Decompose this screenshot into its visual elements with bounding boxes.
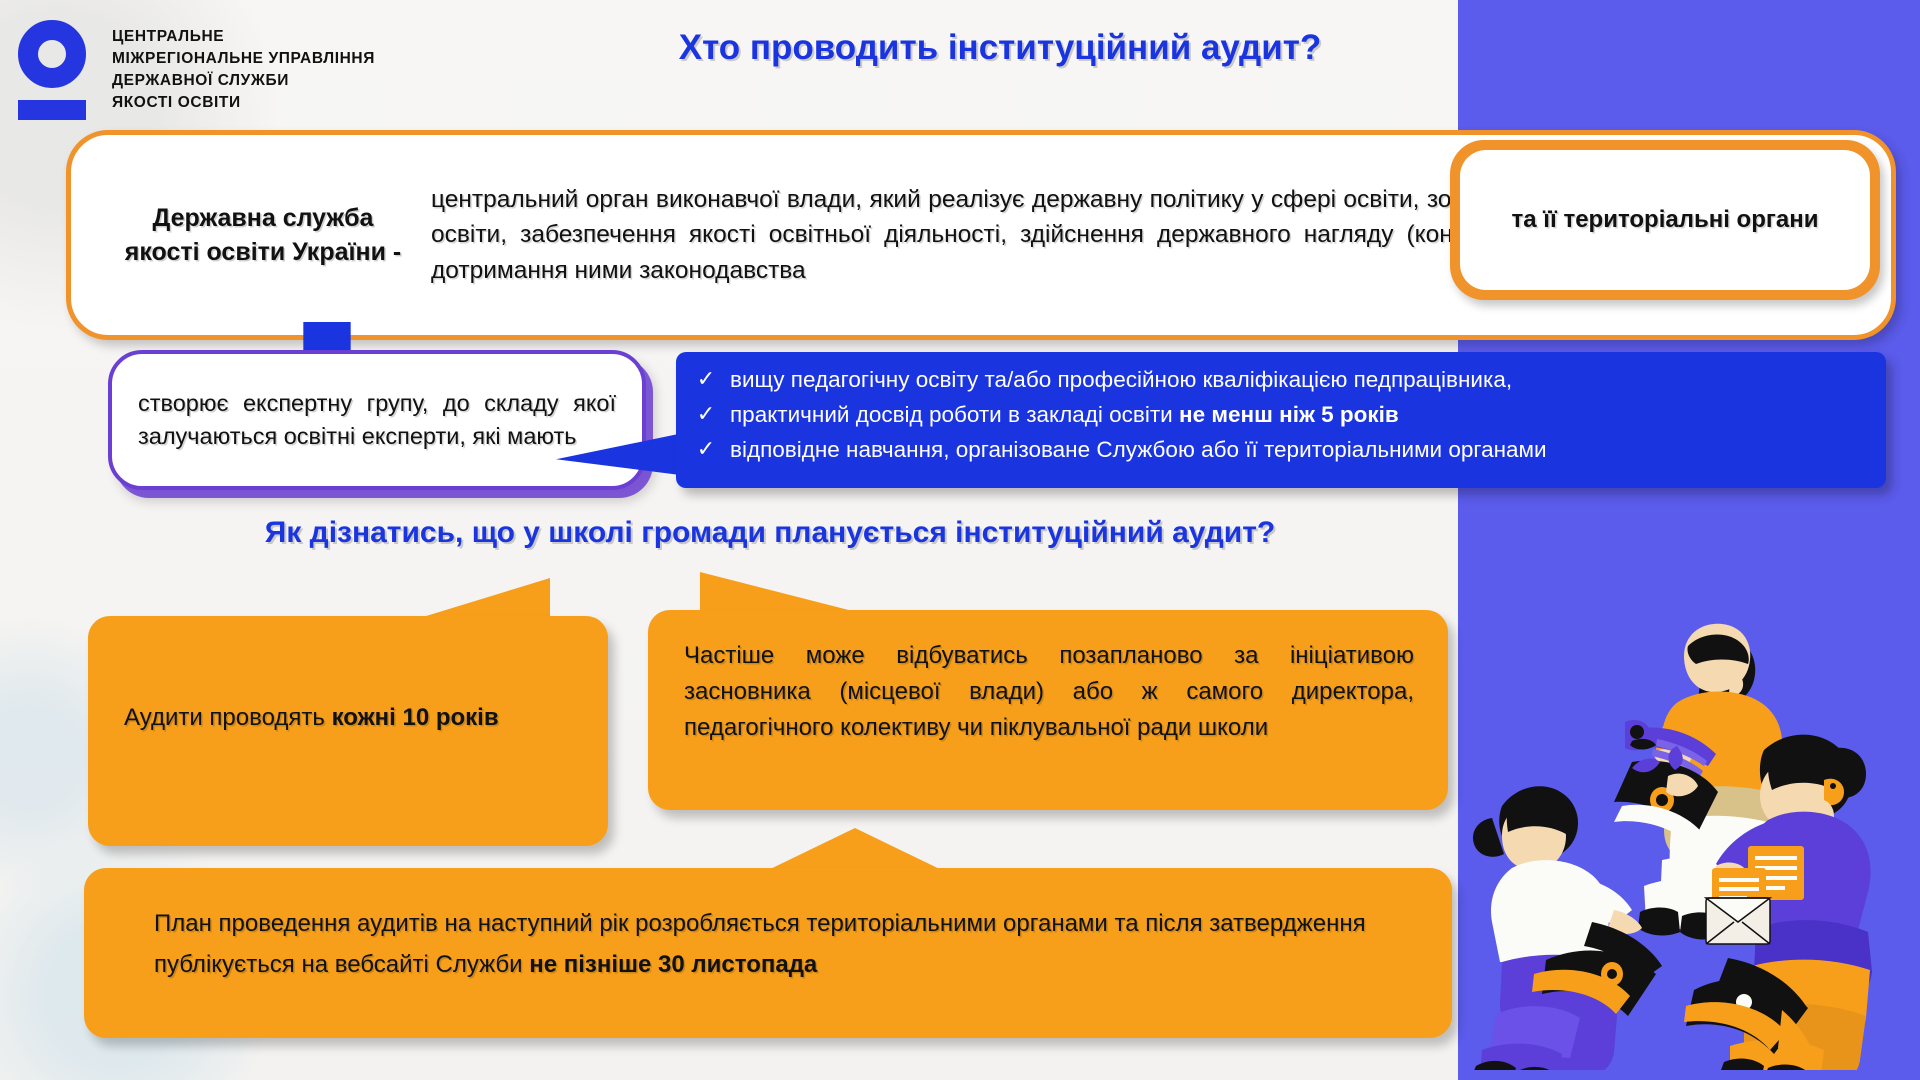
callout-audit-frequency: Аудити проводять кожні 10 років bbox=[88, 616, 608, 846]
brand-logo: ЦЕНТРАЛЬНЕ МІЖРЕГІОНАЛЬНЕ УПРАВЛІННЯ ДЕР… bbox=[18, 14, 375, 120]
callout-audit-plan-publication: План проведення аудитів на наступний рік… bbox=[84, 868, 1452, 1038]
section-subtitle: Як дізнатись, що у школі громади плануєт… bbox=[120, 516, 1420, 550]
slide-canvas: ЦЕНТРАЛЬНЕ МІЖРЕГІОНАЛЬНЕ УПРАВЛІННЯ ДЕР… bbox=[0, 0, 1920, 1080]
requirements-box: ✓ вищу педагогічну освіту та/або професі… bbox=[676, 352, 1886, 488]
territorial-bodies-label: та її територіальні органи bbox=[1460, 150, 1870, 290]
check-icon: ✓ bbox=[696, 401, 716, 427]
callout-text: Частіше може відбуватись позапланово за … bbox=[684, 638, 1414, 746]
territorial-bodies-tab: та її територіальні органи bbox=[1450, 140, 1880, 300]
callout-unscheduled-audit: Частіше може відбуватись позапланово за … bbox=[648, 610, 1448, 810]
requirement-text-1: практичний досвід роботи в закладі освіт… bbox=[730, 401, 1399, 429]
people-with-laptops-illustration bbox=[1472, 610, 1902, 1070]
page-title: Хто проводить інституційний аудит? bbox=[500, 28, 1500, 68]
list-item: ✓ вищу педагогічну освіту та/або професі… bbox=[696, 366, 1866, 394]
requirement-text-0: вищу педагогічну освіту та/або професійн… bbox=[730, 366, 1512, 394]
requirement-text-2: відповідне навчання, організоване Службо… bbox=[730, 436, 1547, 464]
list-item: ✓ практичний досвід роботи в закладі осв… bbox=[696, 401, 1866, 429]
check-icon: ✓ bbox=[696, 436, 716, 462]
expert-group-box: створює експертну групу, до складу якої … bbox=[108, 350, 646, 490]
definition-term: Державна служба якості освіти України - bbox=[113, 201, 413, 270]
ring-logo-icon bbox=[18, 20, 90, 120]
organization-name: ЦЕНТРАЛЬНЕ МІЖРЕГІОНАЛЬНЕ УПРАВЛІННЯ ДЕР… bbox=[112, 26, 375, 114]
callout-text: План проведення аудитів на наступний рік… bbox=[154, 904, 1384, 986]
callout-text: Аудити проводять кожні 10 років bbox=[124, 700, 574, 736]
check-icon: ✓ bbox=[696, 366, 716, 392]
list-item: ✓ відповідне навчання, організоване Служ… bbox=[696, 436, 1866, 464]
expert-group-text: створює експертну групу, до складу якої … bbox=[112, 387, 642, 454]
